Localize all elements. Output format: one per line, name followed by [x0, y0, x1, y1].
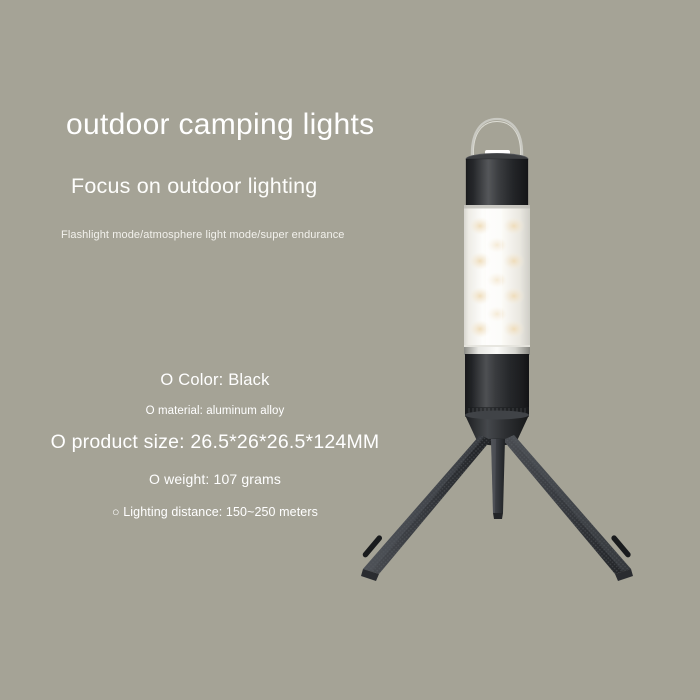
page-title: outdoor camping lights: [66, 108, 374, 142]
page-subtitle: Focus on outdoor lighting: [71, 174, 317, 199]
product-image: [330, 95, 670, 600]
top-cap: [466, 153, 528, 207]
lower-body: [465, 354, 529, 417]
tripod-leg-right: [503, 435, 633, 581]
silver-ring: [464, 347, 530, 355]
feature-tagline: Flashlight mode/atmosphere light mode/su…: [61, 229, 345, 241]
frosted-diffuser: [464, 205, 530, 352]
product-banner: outdoor camping lights Focus on outdoor …: [0, 0, 700, 700]
tripod-leg-center: [491, 439, 505, 519]
tripod-leg-left: [361, 435, 491, 581]
